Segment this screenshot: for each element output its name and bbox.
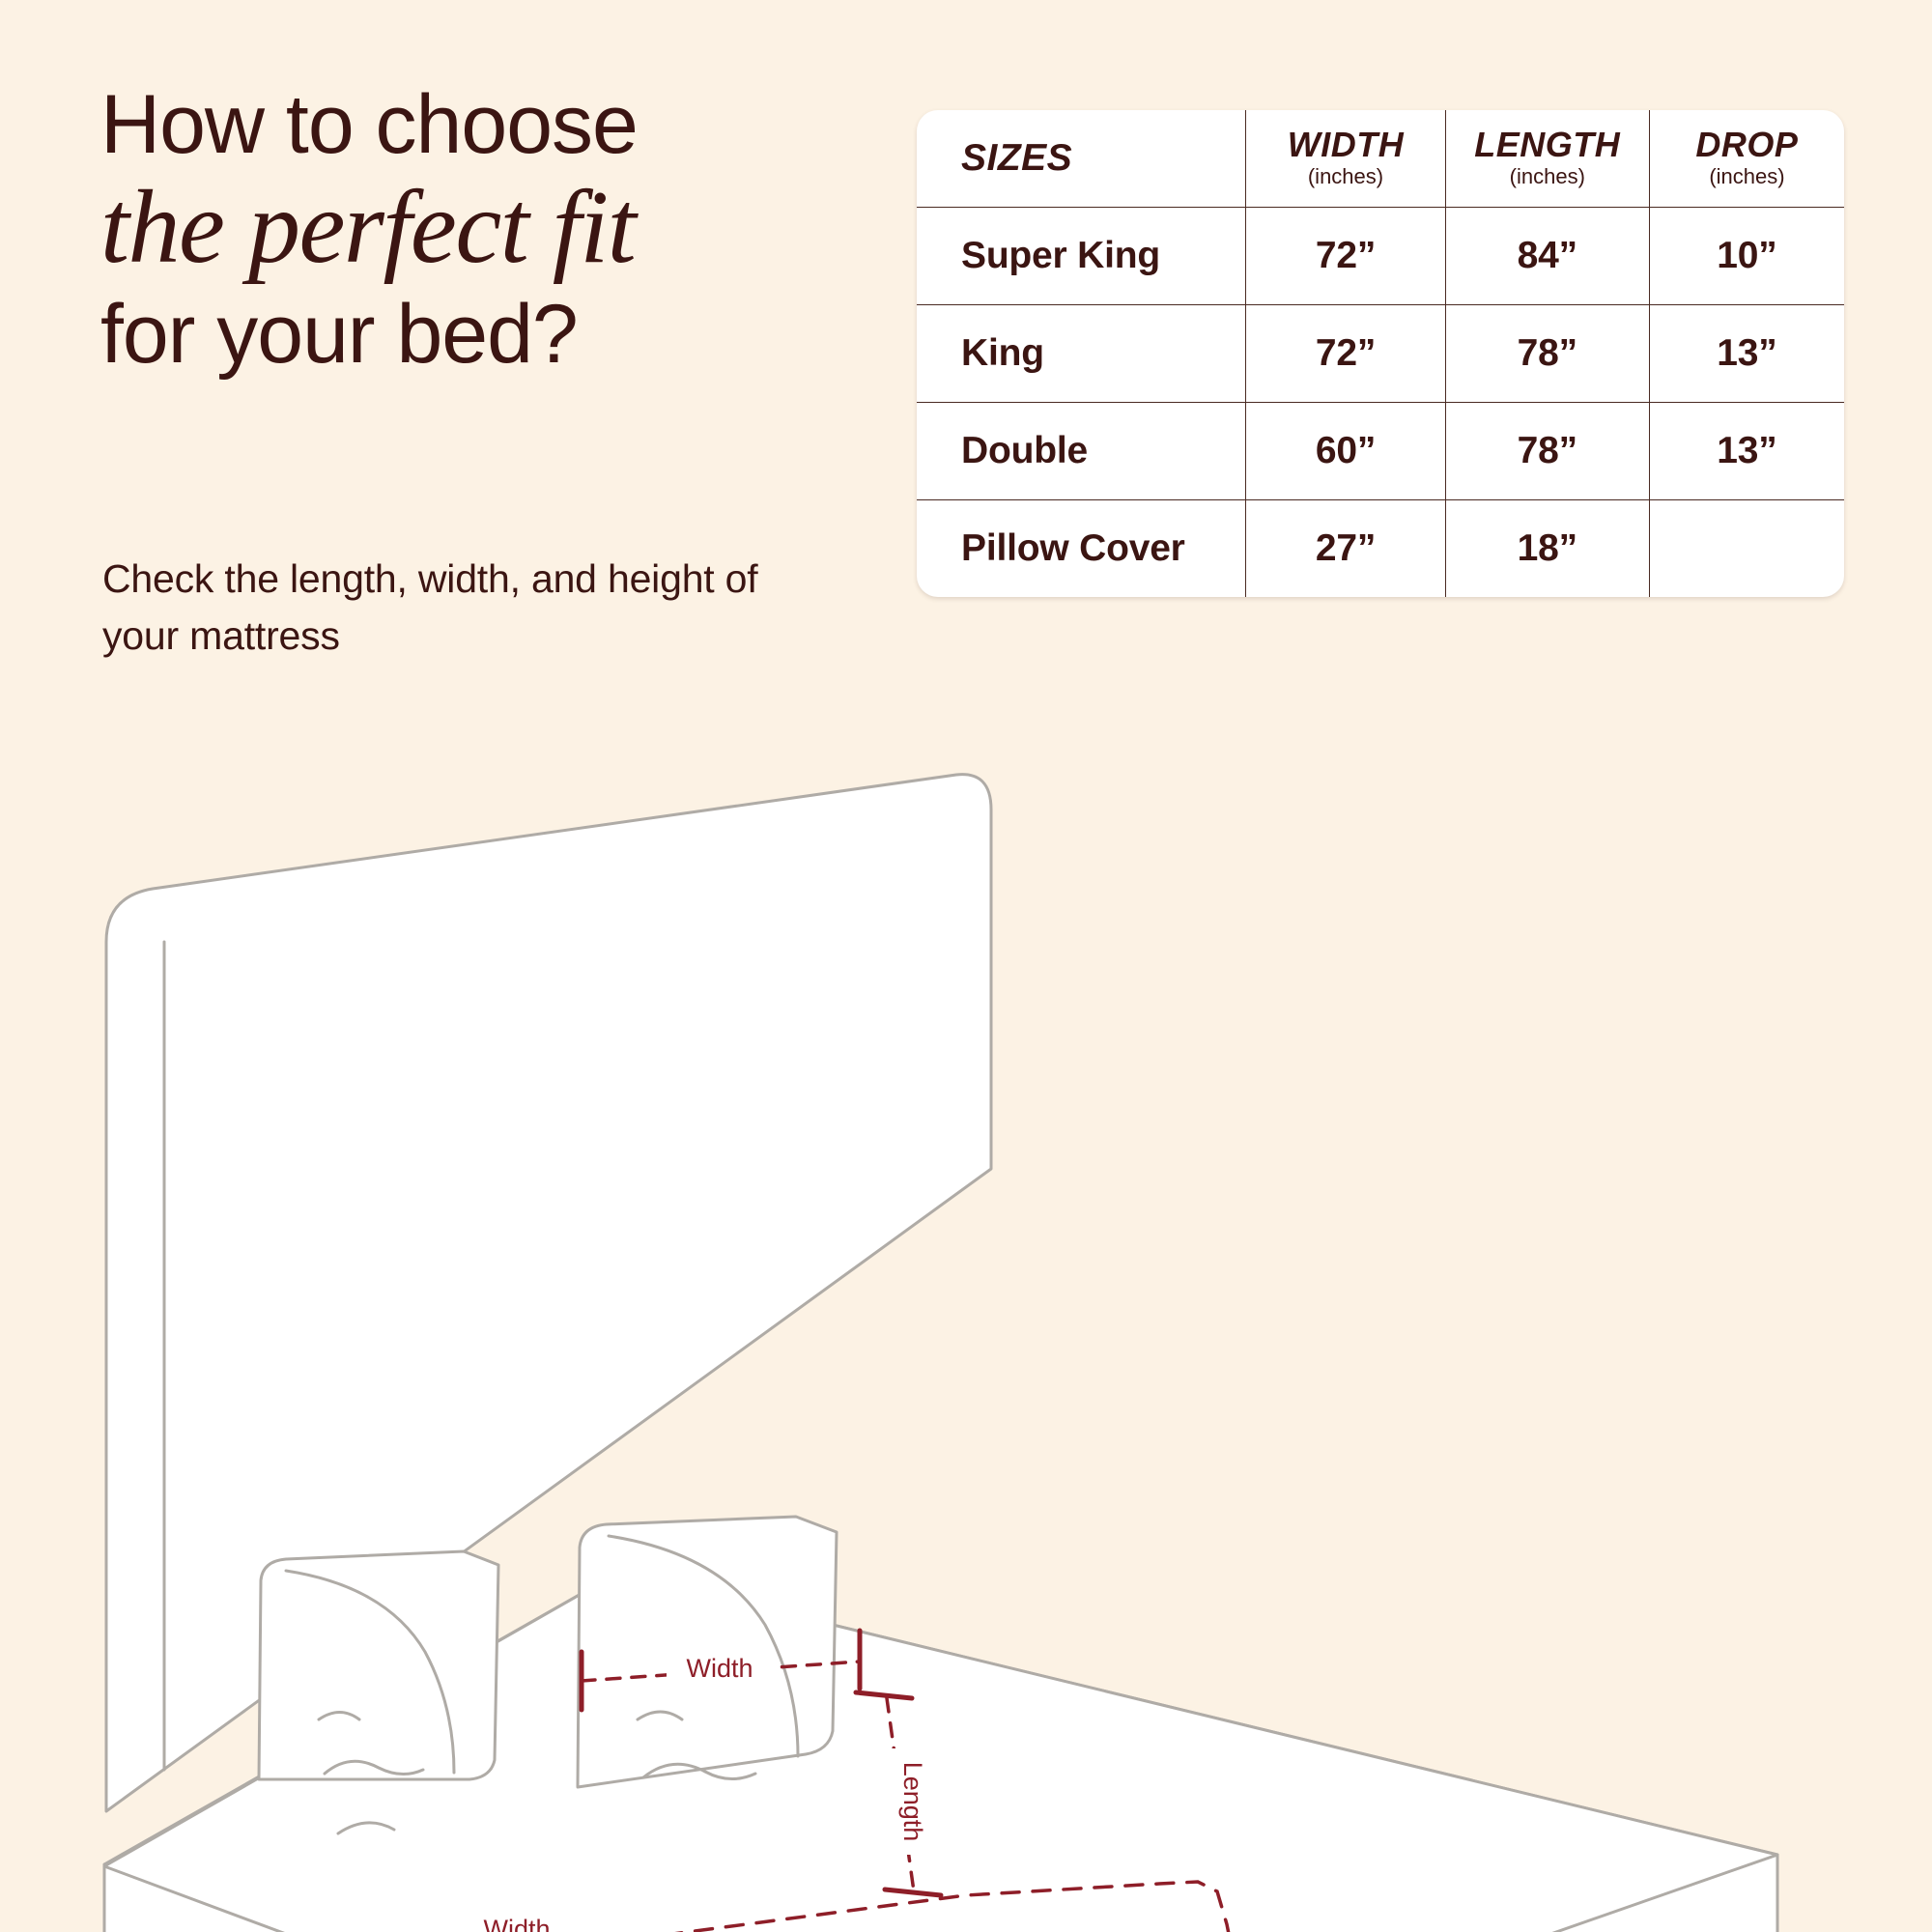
bed-outline-group (104, 775, 1840, 1932)
cell-pillow-cover-width: 27” (1246, 500, 1445, 598)
column-header-drop: DROP (inches) (1649, 110, 1844, 208)
column-header-sizes: SIZES (917, 110, 1246, 208)
table-row: Double 60” 78” 13” (917, 403, 1844, 500)
bed-diagram: Width Length Width Length Height (0, 753, 1932, 1932)
cell-double-width: 60” (1246, 403, 1445, 500)
row-label-king: King (917, 305, 1246, 403)
size-chart-table: SIZES WIDTH (inches) LENGTH (inches) DRO… (917, 110, 1844, 597)
column-header-length: LENGTH (inches) (1445, 110, 1649, 208)
headline-line-3: for your bed? (100, 293, 893, 376)
column-header-drop-label: DROP (1650, 127, 1844, 163)
table-row: Pillow Cover 27” 18” (917, 500, 1844, 598)
cell-super-king-drop: 10” (1649, 208, 1844, 305)
column-header-width-unit: (inches) (1246, 163, 1444, 191)
label-mattress-width: Width (483, 1915, 550, 1932)
pillow-left (259, 1551, 498, 1779)
row-label-pillow-cover: Pillow Cover (917, 500, 1246, 598)
headline-line-2-italic: the perfect fit (100, 170, 893, 287)
column-header-drop-unit: (inches) (1650, 163, 1844, 191)
label-pillow-width: Width (686, 1654, 753, 1683)
row-label-double: Double (917, 403, 1246, 500)
subtitle-text: Check the length, width, and height of y… (102, 551, 779, 666)
cell-super-king-length: 84” (1445, 208, 1649, 305)
cell-king-drop: 13” (1649, 305, 1844, 403)
page-title: How to choose the perfect fit for your b… (100, 83, 893, 376)
table-row: Super King 72” 84” 10” (917, 208, 1844, 305)
cell-super-king-width: 72” (1246, 208, 1445, 305)
column-header-width-label: WIDTH (1246, 127, 1444, 163)
column-header-length-label: LENGTH (1446, 127, 1649, 163)
cell-double-drop: 13” (1649, 403, 1844, 500)
cell-king-width: 72” (1246, 305, 1445, 403)
column-header-length-unit: (inches) (1446, 163, 1649, 191)
headline-line-1: How to choose (100, 83, 893, 166)
row-label-super-king: Super King (917, 208, 1246, 305)
table-row: King 72” 78” 13” (917, 305, 1844, 403)
table-header-row: SIZES WIDTH (inches) LENGTH (inches) DRO… (917, 110, 1844, 208)
cell-pillow-cover-drop (1649, 500, 1844, 598)
cell-pillow-cover-length: 18” (1445, 500, 1649, 598)
label-pillow-length: Length (898, 1762, 927, 1842)
cell-king-length: 78” (1445, 305, 1649, 403)
column-header-width: WIDTH (inches) (1246, 110, 1445, 208)
cell-double-length: 78” (1445, 403, 1649, 500)
